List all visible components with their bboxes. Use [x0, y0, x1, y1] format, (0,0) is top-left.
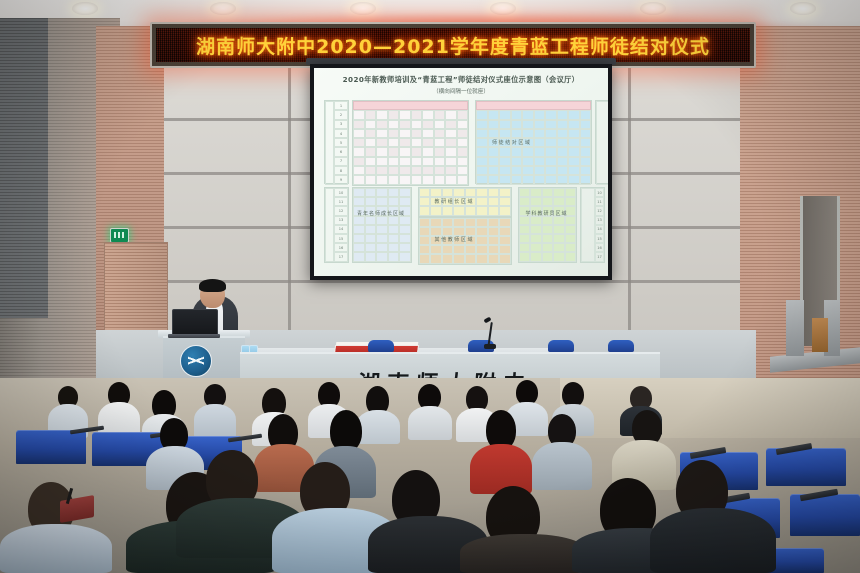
region-label-young-teachers: 青年名师成长区域: [355, 210, 407, 218]
projected-slide: 2020年新教师培训及“青蓝工程”师徒结对仪式座位示意图（会议厅） （横向间隔一…: [314, 68, 608, 276]
row-number: 8: [334, 166, 348, 175]
seat-row[interactable]: [353, 175, 468, 184]
seating-block-subject-researchers[interactable]: 学科教研员区域: [518, 187, 578, 263]
seat-row[interactable]: [353, 147, 468, 156]
slide-title: 2020年新教师培训及“青蓝工程”师徒结对仪式座位示意图（会议厅）: [314, 75, 608, 85]
attendee-body: [532, 442, 592, 490]
wooden-stool: [812, 318, 828, 352]
row-number-gutter-lower-right: 10 11 12 13 14 15 16 17: [580, 187, 605, 263]
attendee-body: [408, 406, 452, 440]
downlight: [72, 2, 98, 15]
auditorium-seat[interactable]: [16, 430, 86, 464]
stage-chair: [608, 340, 634, 352]
row-number: 10: [334, 188, 348, 197]
seat-row[interactable]: [353, 157, 468, 166]
side-desk-leg: [786, 300, 804, 356]
row-number-gutter-lower-left: 10 11 12 13 14 15 16 17: [324, 187, 349, 263]
stage-chair: [548, 340, 574, 352]
seating-block-upper-left[interactable]: [352, 100, 469, 186]
region-label-group-leaders: 教研组长区域: [435, 198, 475, 205]
row-number: 17: [595, 252, 604, 261]
attendee-body: [460, 534, 588, 573]
attendee-body: [470, 444, 532, 494]
region-label-pairing: 师徒结对区域: [492, 139, 532, 146]
region-label-other-teachers: 其他教师区域: [435, 236, 475, 243]
row-number: 14: [595, 225, 604, 234]
row-number: 13: [595, 216, 604, 225]
speaker-hair: [199, 279, 226, 292]
attendee-body: [0, 524, 112, 573]
aisle-label: [581, 188, 595, 262]
row-number: 17: [334, 252, 348, 261]
panel-seam-vertical: [288, 64, 291, 364]
aisle-label: [325, 101, 334, 185]
attendee-body: [194, 404, 236, 438]
region-label-subject-researchers: 学科教研员区域: [521, 210, 573, 218]
row-number: 15: [334, 234, 348, 243]
vip-header-row: [353, 101, 468, 110]
row-number: 14: [334, 225, 348, 234]
aisle-label: [325, 188, 334, 262]
seating-block-young-teachers[interactable]: 青年名师成长区域: [352, 187, 412, 263]
vip-header-row: [476, 101, 591, 110]
presenter-laptop-screen: [172, 309, 218, 337]
seat-row[interactable]: [353, 129, 468, 138]
left-wall-dark-slats: [0, 18, 48, 318]
row-number: 13: [334, 216, 348, 225]
row-number: 11: [595, 197, 604, 206]
row-number: 11: [334, 197, 348, 206]
slide-subtitle: （横向间隔一位就座）: [314, 87, 608, 95]
row-number: 12: [595, 206, 604, 215]
seating-block-upper-right[interactable]: 师徒结对区域: [475, 100, 592, 184]
row-number: 9: [334, 175, 348, 184]
microphone-base: [484, 344, 496, 349]
row-number-gutter-left: 1 2 3 4 5 6 7 8 9: [324, 100, 349, 184]
seating-chart: 1 2 3 4 5 6 7 8 9: [324, 100, 598, 272]
seating-block-other-teachers[interactable]: 其他教师区域: [418, 217, 512, 265]
row-number: 16: [595, 243, 604, 252]
row-number: 7: [334, 157, 348, 166]
row-number: 1: [334, 101, 348, 110]
stage-chair: [368, 340, 394, 352]
seat-row[interactable]: [353, 138, 468, 147]
exit-sign-icon: [110, 228, 129, 243]
seat-row[interactable]: [353, 166, 468, 175]
presenter-laptop-base: [168, 334, 220, 338]
seat-row[interactable]: [353, 120, 468, 129]
row-number: 5: [334, 138, 348, 147]
led-banner-screen: 湖南师大附中2020—2021学年度青蓝工程师徒结对仪式: [156, 28, 750, 62]
projection-screen: 2020年新教师培训及“青蓝工程”师徒结对仪式座位示意图（会议厅） （横向间隔一…: [310, 64, 612, 280]
row-number: 10: [595, 188, 604, 197]
row-number: 12: [334, 206, 348, 215]
row-number: 3: [334, 120, 348, 129]
attendee-body: [356, 410, 400, 444]
seat-row[interactable]: [353, 110, 468, 119]
school-crest-icon: [180, 345, 212, 377]
row-number: 6: [334, 147, 348, 156]
row-number-gutter-right: 1 2 3 4 5 6 7 8 9: [595, 100, 608, 184]
floor-aisle: [560, 378, 860, 438]
row-number: 2: [334, 110, 348, 119]
seating-block-group-leaders[interactable]: 教研组长区域: [418, 187, 512, 217]
aisle-label: [596, 101, 608, 185]
led-banner-text: 湖南师大附中2020—2021学年度青蓝工程师徒结对仪式: [196, 32, 710, 59]
panel-seam-vertical: [628, 64, 631, 364]
panel-seam: [164, 280, 744, 283]
lecture-hall-photo: 湖南师大附中2020—2021学年度青蓝工程师徒结对仪式 2020年新教师培训及…: [0, 0, 860, 573]
row-number: 15: [595, 234, 604, 243]
row-number: 4: [334, 129, 348, 138]
row-number: 16: [334, 243, 348, 252]
attendee-body: [650, 508, 776, 573]
seat-grid[interactable]: [476, 110, 591, 184]
